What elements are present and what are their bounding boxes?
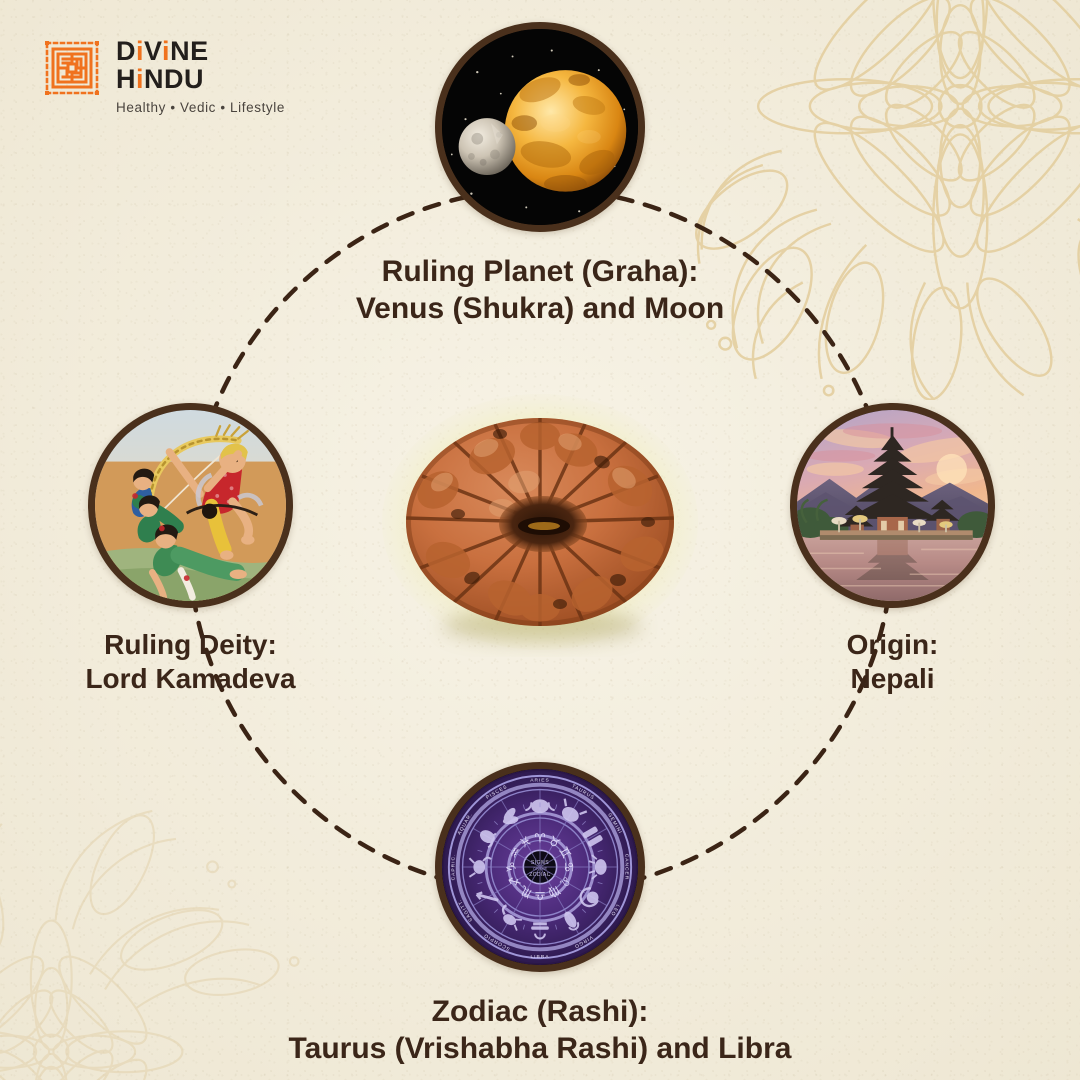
maze-swastika-icon (40, 36, 104, 100)
node-label-ruling-deity: Ruling Deity: Lord Kamadeva (26, 628, 356, 696)
node-value-origin: Nepali (753, 662, 1033, 696)
node-label-ruling-planet: Ruling Planet (Graha): Venus (Shukra) an… (280, 254, 800, 327)
svg-text:♑: ♑ (505, 861, 520, 872)
infographic-canvas: DiViNE HiNDU Healthy • Vedic • Lifestyle (0, 0, 1080, 1080)
logo-line-1: DiViNE (116, 38, 285, 66)
node-value-ruling-planet: Venus (Shukra) and Moon (280, 291, 800, 328)
rudraksha-bead-image (380, 390, 700, 660)
svg-text:LIBRA: LIBRA (530, 954, 549, 960)
node-zodiac[interactable]: SIGNS OF THE ZODIAC ARIES LIBRA TAURUS G… (435, 762, 870, 1067)
node-value-zodiac: Taurus (Vrishabha Rashi) and Libra (210, 1031, 870, 1068)
node-title-zodiac: Zodiac (Rashi): (210, 994, 870, 1031)
zodiac-wheel-image: SIGNS OF THE ZODIAC ARIES LIBRA TAURUS G… (435, 762, 645, 972)
node-ruling-deity[interactable]: Ruling Deity: Lord Kamadeva (88, 403, 356, 696)
node-title-origin: Origin: (753, 628, 1033, 662)
svg-text:ARIES: ARIES (530, 778, 550, 784)
svg-text:CANCER: CANCER (623, 854, 629, 881)
node-value-ruling-deity: Lord Kamadeva (26, 662, 356, 696)
node-label-zodiac: Zodiac (Rashi): Taurus (Vrishabha Rashi)… (210, 994, 870, 1067)
venus-and-moon-image (435, 22, 645, 232)
node-label-origin: Origin: Nepali (753, 628, 1033, 696)
logo-tagline: Healthy • Vedic • Lifestyle (116, 100, 285, 115)
logo-line-2: HiNDU (116, 66, 285, 94)
node-ruling-planet[interactable]: Ruling Planet (Graha): Venus (Shukra) an… (435, 22, 800, 327)
svg-text:CAPRIC.: CAPRIC. (451, 854, 457, 881)
nepali-temple-image (790, 403, 995, 608)
svg-text:♈: ♈ (534, 832, 545, 847)
logo-wordmark: DiViNE HiNDU Healthy • Vedic • Lifestyle (116, 36, 285, 115)
kamadeva-painting-image (88, 403, 293, 608)
svg-text:♋: ♋ (561, 861, 576, 872)
node-title-ruling-deity: Ruling Deity: (26, 628, 356, 662)
svg-text:♎: ♎ (534, 888, 545, 903)
node-title-ruling-planet: Ruling Planet (Graha): (280, 254, 800, 291)
brand-logo[interactable]: DiViNE HiNDU Healthy • Vedic • Lifestyle (40, 36, 285, 115)
node-origin[interactable]: Origin: Nepali (790, 403, 1033, 696)
